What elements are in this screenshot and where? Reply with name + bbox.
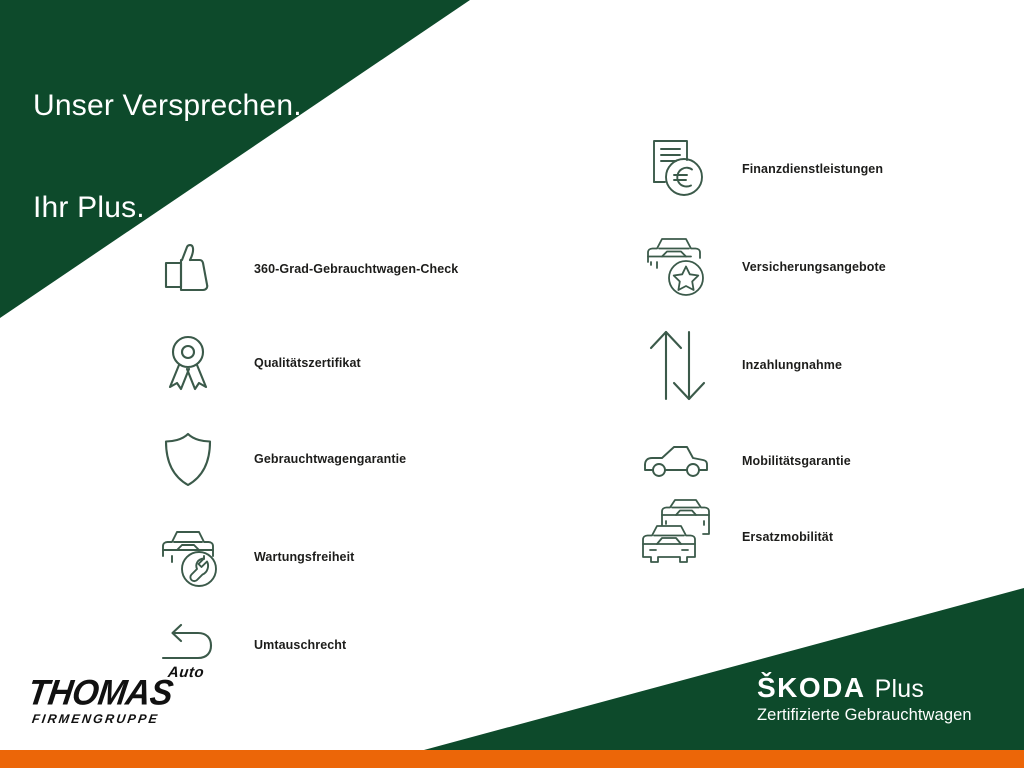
feature-item-mobility-guarantee[interactable]: Mobilitätsgarantie xyxy=(628,420,851,502)
logo-firmengruppe-text: FIRMENGRUPPE xyxy=(31,712,160,726)
bottom-right-green-triangle xyxy=(424,588,1024,750)
two-cars-icon xyxy=(628,496,724,578)
feature-label: Mobilitätsgarantie xyxy=(742,454,851,468)
feature-item-trade-in[interactable]: Inzahlungnahme xyxy=(628,324,842,406)
feature-item-insurance[interactable]: Versicherungsangebote xyxy=(628,226,886,308)
car-star-icon xyxy=(628,226,724,308)
skoda-subtitle: Zertifizierte Gebrauchtwagen xyxy=(757,706,972,725)
feature-label: Inzahlungnahme xyxy=(742,358,842,372)
feature-item-financial-services[interactable]: Finanzdienstleistungen xyxy=(628,128,883,210)
skoda-brand-text: ŠKODA xyxy=(757,672,866,704)
headline-line-2: Ihr Plus. xyxy=(33,191,302,225)
award-ribbon-icon xyxy=(140,322,236,404)
feature-label: Versicherungsangebote xyxy=(742,260,886,274)
feature-item-warranty[interactable]: Gebrauchtwagengarantie xyxy=(140,418,406,500)
auto-thomas-logo[interactable]: Auto THOMAS FIRMENGRUPPE xyxy=(28,664,208,732)
feature-label: 360-Grad-Gebrauchtwagen-Check xyxy=(254,262,458,276)
up-down-arrows-icon xyxy=(628,324,724,406)
logo-thomas-text: THOMAS xyxy=(25,673,175,714)
bottom-orange-bar xyxy=(0,750,1024,768)
feature-label: Ersatzmobilität xyxy=(742,530,833,544)
shield-icon xyxy=(140,418,236,500)
feature-item-quality-certificate[interactable]: Qualitätszertifikat xyxy=(140,322,361,404)
feature-item-maintenance[interactable]: Wartungsfreiheit xyxy=(140,516,354,598)
document-euro-icon xyxy=(628,128,724,210)
feature-label: Qualitätszertifikat xyxy=(254,356,361,370)
car-side-icon xyxy=(628,420,724,502)
feature-label: Finanzdienstleistungen xyxy=(742,162,883,176)
feature-label: Wartungsfreiheit xyxy=(254,550,354,564)
headline-line-1: Unser Versprechen. xyxy=(33,89,302,123)
feature-label: Umtauschrecht xyxy=(254,638,346,652)
promo-poster: Unser Versprechen. Ihr Plus. 360-Grad-Ge… xyxy=(0,0,1024,768)
car-wrench-icon xyxy=(140,516,236,598)
skoda-plus-text: Plus xyxy=(875,675,924,704)
skoda-plus-logo[interactable]: ŠKODA Plus Zertifizierte Gebrauchtwagen xyxy=(757,672,972,725)
feature-item-replacement-mobility[interactable]: Ersatzmobilität xyxy=(628,496,833,578)
thumbs-up-icon xyxy=(140,228,236,310)
skoda-logo-top-row: ŠKODA Plus xyxy=(757,672,972,704)
feature-label: Gebrauchtwagengarantie xyxy=(254,452,406,466)
feature-item-360-check[interactable]: 360-Grad-Gebrauchtwagen-Check xyxy=(140,228,458,310)
